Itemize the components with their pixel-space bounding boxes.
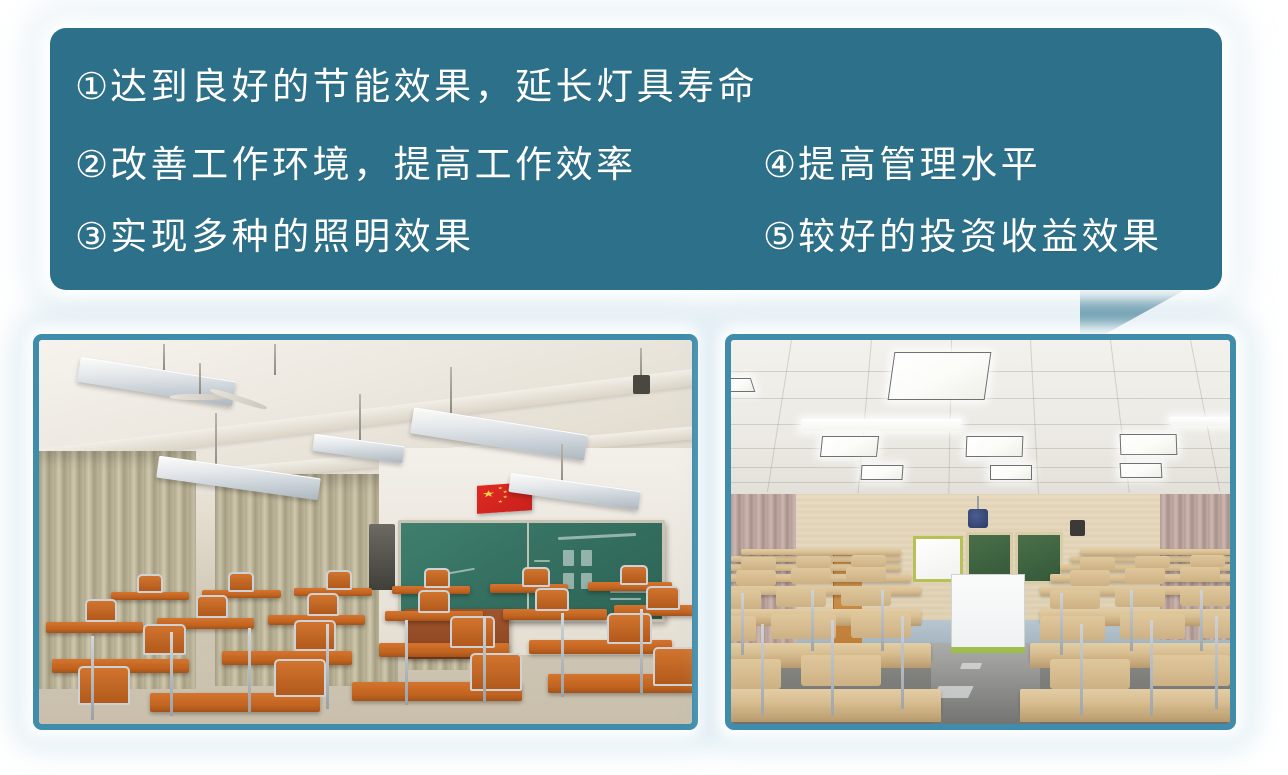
classroom-before-photo xyxy=(33,334,698,730)
callout-item-3-text: 实现多种的照明效果 xyxy=(110,217,475,258)
classroom-before-image xyxy=(39,340,692,724)
led-strip-light xyxy=(800,419,961,431)
projector xyxy=(968,509,988,528)
callout-item-1-text: 达到良好的节能效果，延长灯具寿命 xyxy=(110,67,758,108)
platform-edge xyxy=(951,647,1026,652)
callout-item-3-marker: ③ xyxy=(75,216,108,260)
callout-item-5: ⑤较好的投资收益效果 xyxy=(763,216,1163,260)
callout-item-2-marker: ② xyxy=(75,144,108,188)
callout-item-5-marker: ⑤ xyxy=(763,216,796,260)
callout-item-4: ④提高管理水平 xyxy=(763,144,1041,188)
callout-item-5-text: 较好的投资收益效果 xyxy=(798,217,1163,258)
callout-item-1: ①达到良好的节能效果，延长灯具寿命 xyxy=(75,66,758,110)
led-panel-light xyxy=(1120,463,1163,478)
callout-item-2: ②改善工作环境，提高工作效率 xyxy=(75,144,637,188)
led-panel-light xyxy=(887,352,991,400)
led-panel-light xyxy=(965,436,1023,457)
wall-camera xyxy=(1070,520,1085,535)
callout-item-2-text: 改善工作环境，提高工作效率 xyxy=(110,145,637,186)
led-panel-light xyxy=(1120,434,1178,455)
led-panel-light xyxy=(990,465,1032,480)
callout-item-4-marker: ④ xyxy=(763,144,796,188)
led-panel-light xyxy=(731,378,755,392)
projection-screen xyxy=(951,574,1026,651)
led-panel-light xyxy=(820,436,879,457)
callout-text-area: ①达到良好的节能效果，延长灯具寿命 ②改善工作环境，提高工作效率 ③实现多种的照… xyxy=(50,28,1222,290)
led-strip-light xyxy=(1169,417,1230,426)
callout-item-3: ③实现多种的照明效果 xyxy=(75,216,475,260)
callout-item-4-text: 提高管理水平 xyxy=(798,145,1041,186)
benefits-callout: ①达到良好的节能效果，延长灯具寿命 ②改善工作环境，提高工作效率 ③实现多种的照… xyxy=(50,28,1222,290)
callout-item-1-marker: ① xyxy=(75,66,108,110)
classroom-after-image xyxy=(731,340,1230,724)
wall-speaker xyxy=(369,524,395,589)
led-panel-light xyxy=(860,465,903,480)
classroom-after-photo xyxy=(725,334,1236,730)
